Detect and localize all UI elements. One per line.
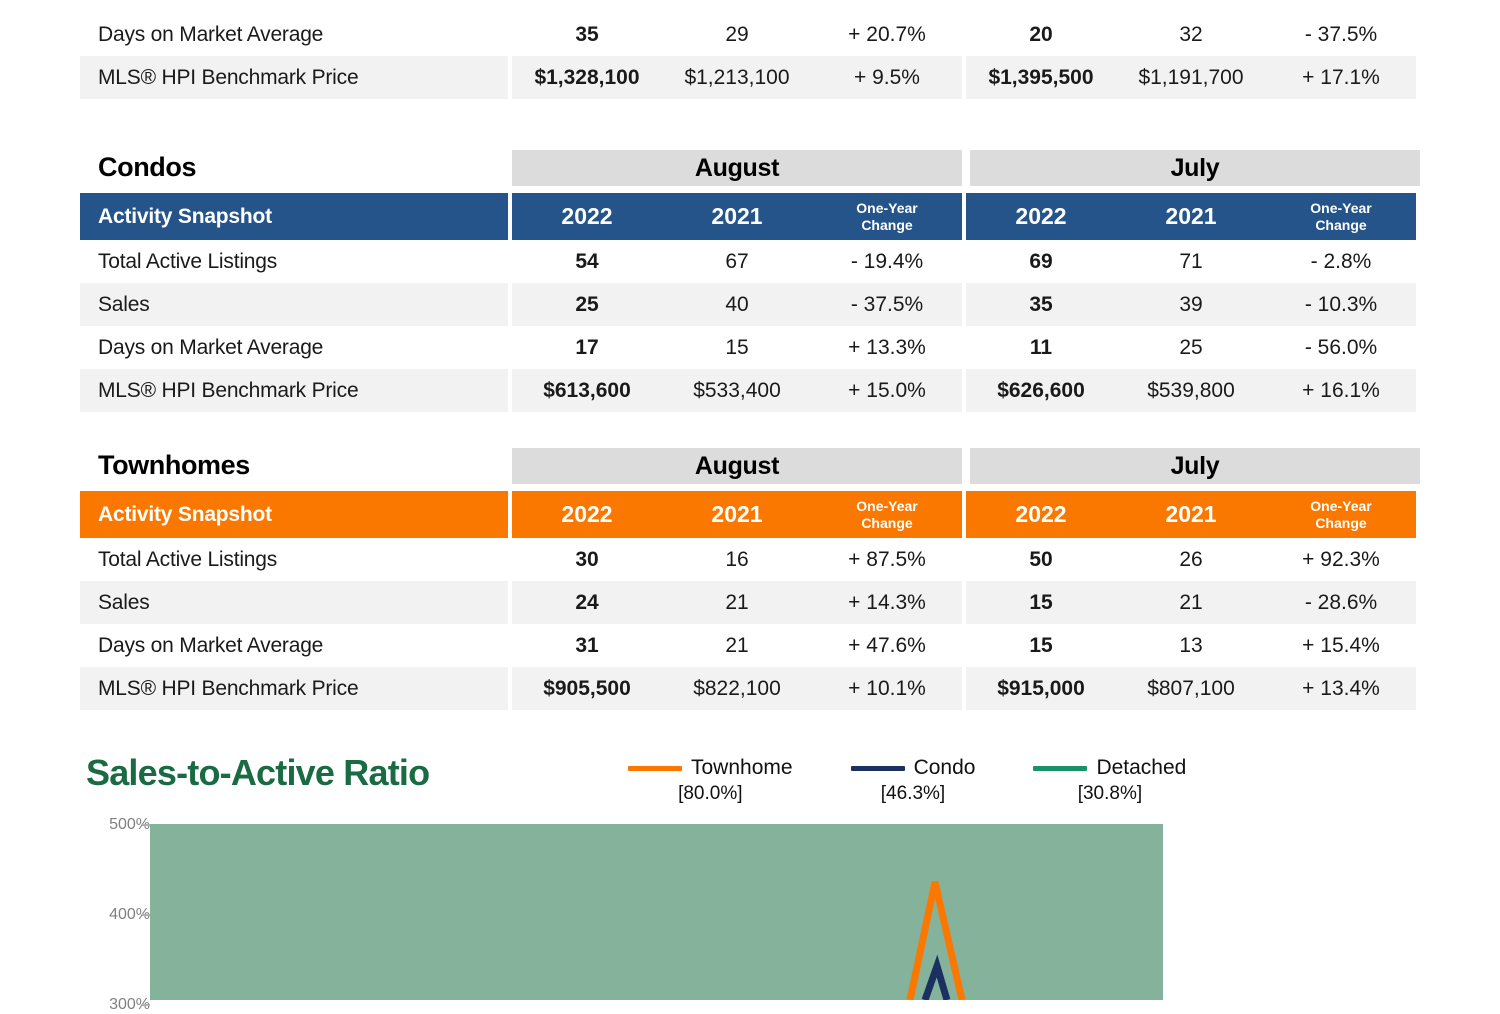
cell-jul-2021: 26 bbox=[1116, 538, 1266, 581]
condos-section-title: Condos bbox=[98, 152, 196, 183]
cell-aug-change: + 10.1% bbox=[812, 667, 962, 710]
july-group: $1,395,500 $1,191,700 + 17.1% bbox=[966, 56, 1416, 99]
august-header-group: 2022 2021 One-YearChange bbox=[512, 491, 962, 538]
cell-jul-2021: 39 bbox=[1116, 283, 1266, 326]
chart-y-axis: 500% 400% 300% bbox=[80, 824, 150, 1004]
row-label: Days on Market Average bbox=[80, 326, 508, 369]
cell-aug-change: + 20.7% bbox=[812, 13, 962, 56]
townhomes-header-row: Activity Snapshot 2022 2021 One-YearChan… bbox=[80, 491, 1420, 538]
cell-aug-change: + 47.6% bbox=[812, 624, 962, 667]
july-group: 50 26 + 92.3% bbox=[966, 538, 1416, 581]
row-label: MLS® HPI Benchmark Price bbox=[80, 56, 508, 99]
cell-aug-change: - 37.5% bbox=[812, 283, 962, 326]
august-group: $613,600 $533,400 + 15.0% bbox=[512, 369, 962, 412]
cell-jul-change: + 13.4% bbox=[1266, 667, 1416, 710]
table-row: Sales 25 40 - 37.5% 35 39 - 10.3% bbox=[80, 283, 1420, 326]
table-row: Sales 24 21 + 14.3% 15 21 - 28.6% bbox=[80, 581, 1420, 624]
july-header-group: 2022 2021 One-YearChange bbox=[966, 491, 1416, 538]
july-group: 69 71 - 2.8% bbox=[966, 240, 1416, 283]
cell-aug-2021: 67 bbox=[662, 240, 812, 283]
legend-swatch-detached bbox=[1033, 766, 1087, 771]
august-group: $905,500 $822,100 + 10.1% bbox=[512, 667, 962, 710]
july-group: 20 32 - 37.5% bbox=[966, 13, 1416, 56]
cell-aug-change: + 14.3% bbox=[812, 581, 962, 624]
july-group: 21 39 - 46.2% bbox=[966, 0, 1416, 13]
table-row: Days on Market Average 31 21 + 47.6% 15 … bbox=[80, 624, 1420, 667]
july-group: 11 25 - 56.0% bbox=[966, 326, 1416, 369]
cell-jul-2022: 11 bbox=[966, 326, 1116, 369]
table-row: Days on Market Average 35 29 + 20.7% 20 … bbox=[80, 13, 1420, 56]
cell-jul-2021: 39 bbox=[1116, 0, 1266, 13]
header-2021: 2021 bbox=[662, 491, 812, 538]
header-one-year-change: One-YearChange bbox=[812, 193, 962, 240]
header-2022: 2022 bbox=[512, 193, 662, 240]
activity-snapshot-label: Activity Snapshot bbox=[80, 491, 508, 538]
cell-jul-2022: $1,395,500 bbox=[966, 56, 1116, 99]
cell-aug-2021: 15 bbox=[662, 326, 812, 369]
august-header-group: 2022 2021 One-YearChange bbox=[512, 193, 962, 240]
cell-aug-2021: $1,213,100 bbox=[662, 56, 812, 99]
chart-title: Sales-to-Active Ratio bbox=[86, 752, 429, 794]
table-row: MLS® HPI Benchmark Price $905,500 $822,1… bbox=[80, 667, 1420, 710]
july-group: 15 13 + 15.4% bbox=[966, 624, 1416, 667]
cell-jul-2021: $539,800 bbox=[1116, 369, 1266, 412]
y-tick-label-500: 500% bbox=[88, 816, 150, 834]
cell-jul-change: + 15.4% bbox=[1266, 624, 1416, 667]
cell-jul-change: - 37.5% bbox=[1266, 13, 1416, 56]
detached-table: Sales 28 36 - 22.2% 21 39 - 46.2% Days o… bbox=[80, 0, 1420, 99]
table-row: Sales 28 36 - 22.2% 21 39 - 46.2% bbox=[80, 0, 1420, 13]
cell-jul-2022: 50 bbox=[966, 538, 1116, 581]
legend-label-townhome: Townhome bbox=[691, 756, 793, 780]
table-row: Total Active Listings 30 16 + 87.5% 50 2… bbox=[80, 538, 1420, 581]
series-line-condo bbox=[925, 966, 947, 1000]
row-label: MLS® HPI Benchmark Price bbox=[80, 667, 508, 710]
header-one-year-change: One-YearChange bbox=[1266, 491, 1416, 538]
townhomes-section-title: Townhomes bbox=[98, 450, 250, 481]
row-label: Sales bbox=[80, 0, 508, 13]
cell-jul-change: + 17.1% bbox=[1266, 56, 1416, 99]
legend-value-detached: [30.8%] bbox=[1078, 783, 1142, 805]
cell-aug-2022: $905,500 bbox=[512, 667, 662, 710]
row-label: Sales bbox=[80, 283, 508, 326]
cell-aug-change: + 87.5% bbox=[812, 538, 962, 581]
header-2021: 2021 bbox=[1116, 193, 1266, 240]
row-label: Total Active Listings bbox=[80, 240, 508, 283]
y-tick-label-300: 300% bbox=[88, 996, 150, 1014]
cell-aug-2022: 30 bbox=[512, 538, 662, 581]
cell-jul-2022: 15 bbox=[966, 581, 1116, 624]
month-header-july: July bbox=[970, 150, 1420, 186]
table-row: MLS® HPI Benchmark Price $613,600 $533,4… bbox=[80, 369, 1420, 412]
activity-snapshot-label: Activity Snapshot bbox=[80, 193, 508, 240]
august-group: 30 16 + 87.5% bbox=[512, 538, 962, 581]
cell-aug-2022: 31 bbox=[512, 624, 662, 667]
cell-aug-change: + 9.5% bbox=[812, 56, 962, 99]
month-gap bbox=[962, 150, 970, 186]
cell-aug-2022: 17 bbox=[512, 326, 662, 369]
cell-aug-2021: $533,400 bbox=[662, 369, 812, 412]
row-label: Days on Market Average bbox=[80, 624, 508, 667]
condos-header-row: Activity Snapshot 2022 2021 One-YearChan… bbox=[80, 193, 1420, 240]
cell-aug-2021: 29 bbox=[662, 13, 812, 56]
cell-aug-change: - 19.4% bbox=[812, 240, 962, 283]
cell-aug-2021: 16 bbox=[662, 538, 812, 581]
row-label: Total Active Listings bbox=[80, 538, 508, 581]
legend-swatch-condo bbox=[851, 766, 905, 771]
header-2021: 2021 bbox=[662, 193, 812, 240]
header-2022: 2022 bbox=[966, 193, 1116, 240]
cell-aug-2021: 36 bbox=[662, 0, 812, 13]
august-group: 17 15 + 13.3% bbox=[512, 326, 962, 369]
cell-jul-2022: 15 bbox=[966, 624, 1116, 667]
cell-jul-2021: 21 bbox=[1116, 581, 1266, 624]
sales-to-active-ratio-chart: Sales-to-Active Ratio Townhome [80.0%] C… bbox=[0, 740, 1500, 1000]
y-tick-label-400: 400% bbox=[88, 906, 150, 924]
cell-jul-2021: $807,100 bbox=[1116, 667, 1266, 710]
header-2021: 2021 bbox=[1116, 491, 1266, 538]
august-group: 24 21 + 14.3% bbox=[512, 581, 962, 624]
header-2022: 2022 bbox=[966, 491, 1116, 538]
header-one-year-change: One-YearChange bbox=[812, 491, 962, 538]
chart-legend: Townhome [80.0%] Condo [46.3%] Detached … bbox=[628, 756, 1186, 805]
header-one-year-change: One-YearChange bbox=[1266, 193, 1416, 240]
july-group: $626,600 $539,800 + 16.1% bbox=[966, 369, 1416, 412]
august-group: 35 29 + 20.7% bbox=[512, 13, 962, 56]
cell-jul-2022: $626,600 bbox=[966, 369, 1116, 412]
cell-aug-2022: 28 bbox=[512, 0, 662, 13]
month-header-august: August bbox=[512, 150, 962, 186]
month-band: August July bbox=[512, 150, 1420, 186]
legend-value-townhome: [80.0%] bbox=[678, 783, 742, 805]
august-group: 25 40 - 37.5% bbox=[512, 283, 962, 326]
cell-jul-change: - 28.6% bbox=[1266, 581, 1416, 624]
townhomes-table: Townhomes August July Activity Snapshot … bbox=[80, 448, 1420, 710]
row-label: Days on Market Average bbox=[80, 13, 508, 56]
cell-aug-2022: 35 bbox=[512, 13, 662, 56]
legend-label-condo: Condo bbox=[914, 756, 976, 780]
month-band: August July bbox=[512, 448, 1420, 484]
july-header-group: 2022 2021 One-YearChange bbox=[966, 193, 1416, 240]
cell-aug-2021: 40 bbox=[662, 283, 812, 326]
header-2022: 2022 bbox=[512, 491, 662, 538]
month-gap bbox=[962, 448, 970, 484]
cell-jul-2021: 32 bbox=[1116, 13, 1266, 56]
cell-jul-change: + 92.3% bbox=[1266, 538, 1416, 581]
cell-jul-2022: 35 bbox=[966, 283, 1116, 326]
cell-jul-2021: 25 bbox=[1116, 326, 1266, 369]
cell-jul-2021: 13 bbox=[1116, 624, 1266, 667]
cell-aug-change: - 22.2% bbox=[812, 0, 962, 13]
cell-jul-change: - 10.3% bbox=[1266, 283, 1416, 326]
legend-value-condo: [46.3%] bbox=[881, 783, 945, 805]
table-row: Total Active Listings 54 67 - 19.4% 69 7… bbox=[80, 240, 1420, 283]
august-group: $1,328,100 $1,213,100 + 9.5% bbox=[512, 56, 962, 99]
cell-jul-2022: $915,000 bbox=[966, 667, 1116, 710]
july-group: $915,000 $807,100 + 13.4% bbox=[966, 667, 1416, 710]
cell-aug-2021: $822,100 bbox=[662, 667, 812, 710]
cell-jul-2022: 69 bbox=[966, 240, 1116, 283]
y-tick-mark bbox=[142, 1004, 150, 1006]
august-group: 54 67 - 19.4% bbox=[512, 240, 962, 283]
table-row: Days on Market Average 17 15 + 13.3% 11 … bbox=[80, 326, 1420, 369]
cell-aug-2022: 25 bbox=[512, 283, 662, 326]
row-label: MLS® HPI Benchmark Price bbox=[80, 369, 508, 412]
cell-jul-change: - 2.8% bbox=[1266, 240, 1416, 283]
month-header-august: August bbox=[512, 448, 962, 484]
y-tick-mark bbox=[142, 824, 150, 826]
cell-aug-2021: 21 bbox=[662, 581, 812, 624]
cell-jul-2022: 20 bbox=[966, 13, 1116, 56]
legend-swatch-townhome bbox=[628, 766, 682, 771]
table-row: MLS® HPI Benchmark Price $1,328,100 $1,2… bbox=[80, 56, 1420, 99]
august-group: 28 36 - 22.2% bbox=[512, 0, 962, 13]
cell-aug-2022: $613,600 bbox=[512, 369, 662, 412]
cell-jul-2022: 21 bbox=[966, 0, 1116, 13]
july-group: 15 21 - 28.6% bbox=[966, 581, 1416, 624]
cell-aug-change: + 13.3% bbox=[812, 326, 962, 369]
chart-series-lines bbox=[150, 824, 1163, 1000]
cell-aug-2021: 21 bbox=[662, 624, 812, 667]
cell-jul-change: + 16.1% bbox=[1266, 369, 1416, 412]
july-group: 35 39 - 10.3% bbox=[966, 283, 1416, 326]
cell-aug-2022: 54 bbox=[512, 240, 662, 283]
legend-item-townhome[interactable]: Townhome [80.0%] bbox=[628, 756, 793, 805]
cell-aug-change: + 15.0% bbox=[812, 369, 962, 412]
august-group: 31 21 + 47.6% bbox=[512, 624, 962, 667]
cell-jul-2021: 71 bbox=[1116, 240, 1266, 283]
series-line-townhome bbox=[910, 882, 962, 1000]
chart-plot-area bbox=[150, 824, 1163, 1000]
cell-jul-2021: $1,191,700 bbox=[1116, 56, 1266, 99]
month-header-july: July bbox=[970, 448, 1420, 484]
y-tick-mark bbox=[142, 914, 150, 916]
cell-aug-2022: $1,328,100 bbox=[512, 56, 662, 99]
condos-table: Condos August July Activity Snapshot 202… bbox=[80, 150, 1420, 412]
legend-item-detached[interactable]: Detached [30.8%] bbox=[1033, 756, 1186, 805]
cell-aug-2022: 24 bbox=[512, 581, 662, 624]
cell-jul-change: - 56.0% bbox=[1266, 326, 1416, 369]
cell-jul-change: - 46.2% bbox=[1266, 0, 1416, 13]
legend-label-detached: Detached bbox=[1096, 756, 1186, 780]
legend-item-condo[interactable]: Condo [46.3%] bbox=[851, 756, 976, 805]
row-label: Sales bbox=[80, 581, 508, 624]
